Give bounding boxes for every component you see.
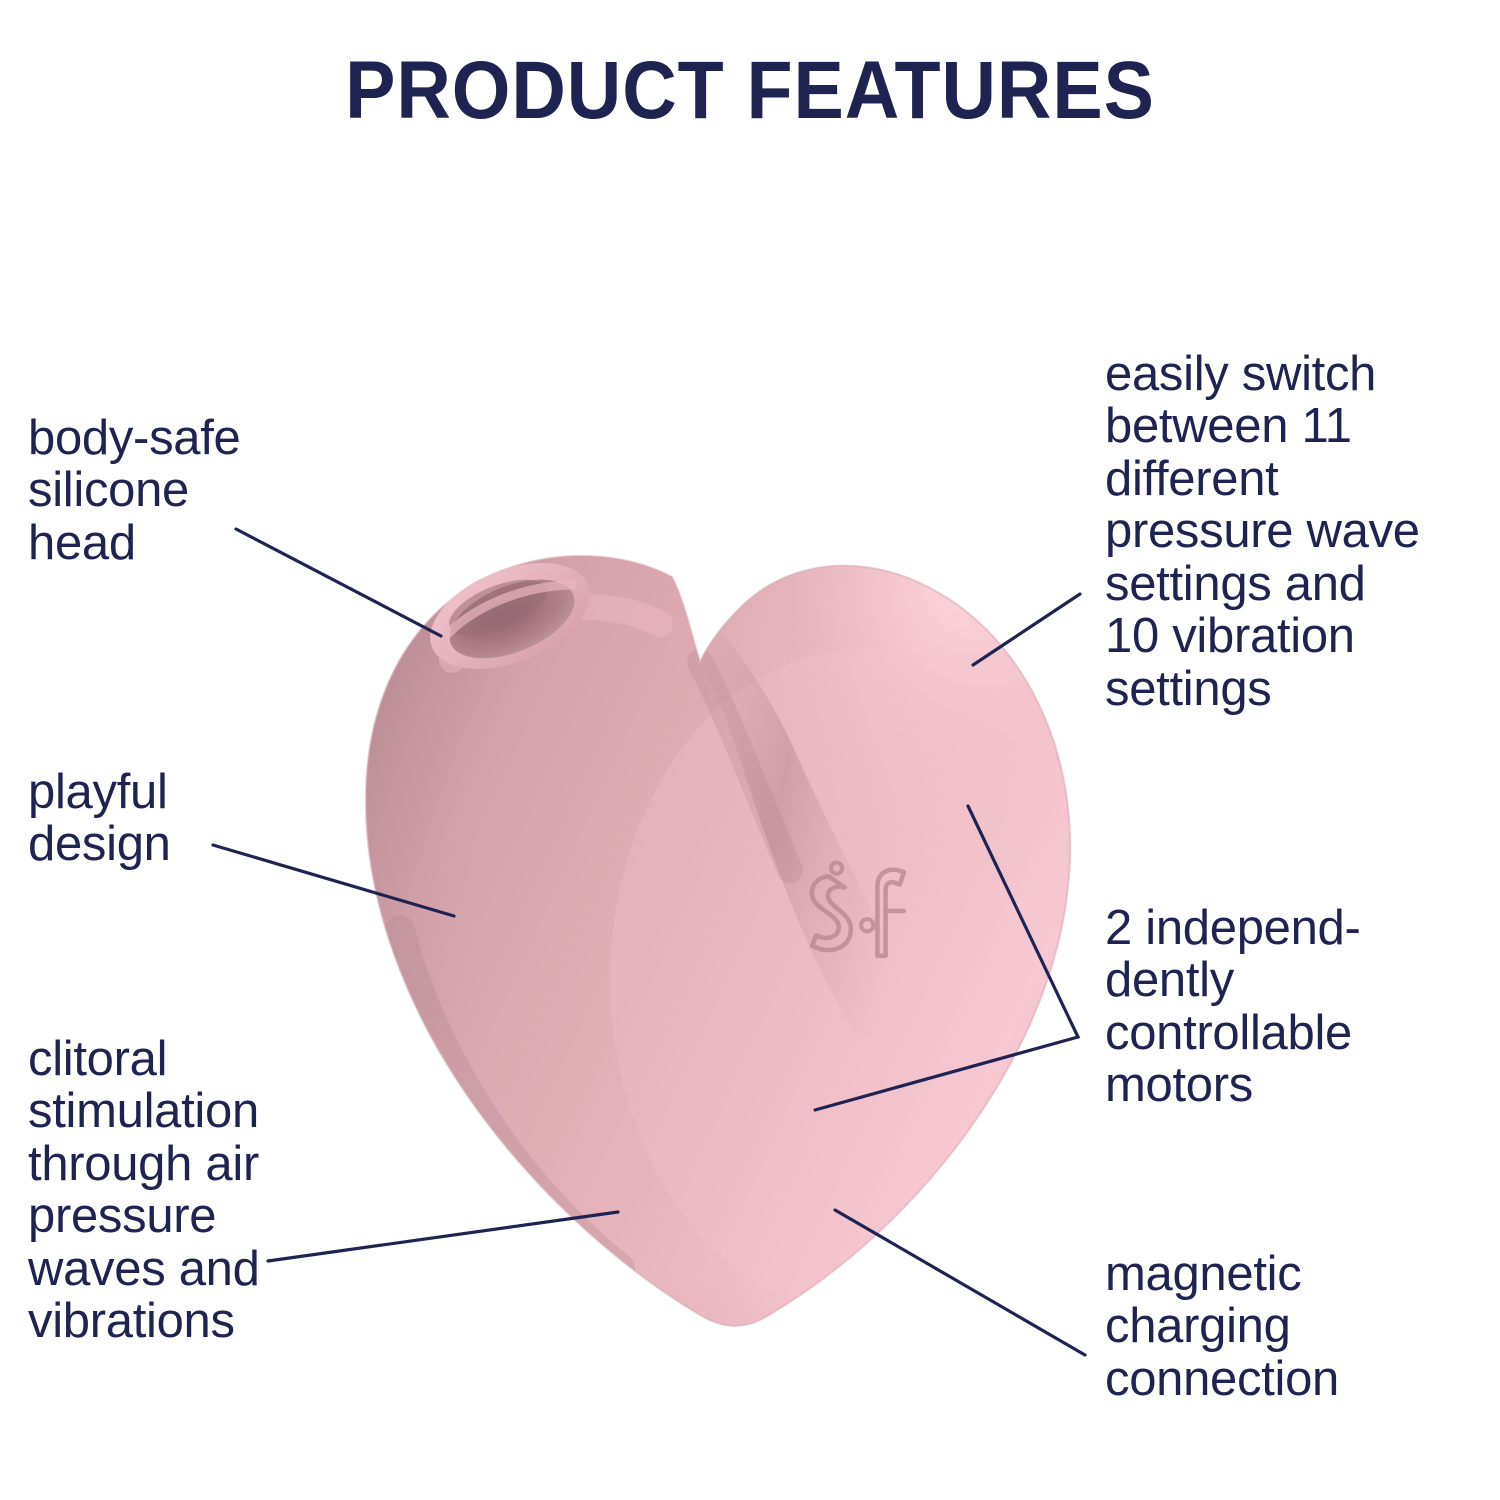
leader-line-pressure-wave-settings <box>973 594 1080 665</box>
callout-body-safe-silicone-head: body-safe silicone head <box>28 412 241 569</box>
callout-clitoral-stimulation: clitoral stimulation through air pressur… <box>28 1033 260 1348</box>
callout-playful-design: playful design <box>28 766 171 871</box>
leader-line-magnetic-charging <box>835 1210 1085 1355</box>
product-features-infographic: PRODUCT FEATURES <box>0 0 1500 1500</box>
heart-body <box>200 470 1135 1460</box>
callout-pressure-wave-and-vibration-settings: easily switch between 11 different press… <box>1105 348 1500 715</box>
leader-line-clitoral-stimulation <box>268 1212 618 1261</box>
callout-two-independent-motors: 2 independ- dently controllable motors <box>1105 902 1500 1112</box>
callout-magnetic-charging-connection: magnetic charging connection <box>1105 1248 1500 1405</box>
leader-line-body-safe-silicone-head <box>236 529 441 636</box>
